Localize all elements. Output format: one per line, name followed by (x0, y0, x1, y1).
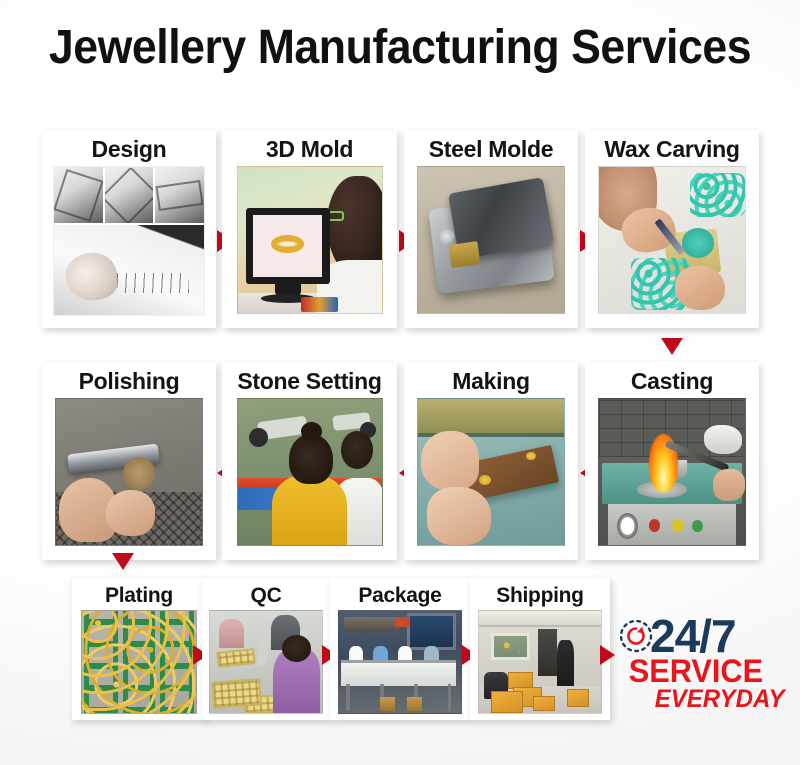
bench-jeweller-filing-photo (417, 398, 565, 546)
step-card-shipping[interactable]: Shipping (470, 578, 610, 720)
step-card-steel-molde[interactable]: Steel Molde (404, 130, 578, 328)
hand-sketching-photo (54, 225, 204, 316)
step-card-casting[interactable]: Casting (585, 362, 759, 560)
service-badge-24-7: 24/7 SERVICE EVERYDAY (612, 608, 777, 720)
step-label-design: Design (92, 134, 167, 166)
step-card-making[interactable]: Making (404, 362, 578, 560)
step-label-making: Making (452, 366, 529, 398)
badge-service-text: SERVICE (629, 656, 763, 686)
step-label-3d-mold: 3D Mold (266, 134, 353, 166)
step-label-shipping: Shipping (496, 582, 583, 610)
sketch-thumb-2 (105, 167, 154, 223)
arrow-down-icon-row2-row3 (112, 553, 134, 570)
step-card-design[interactable]: Design (42, 130, 216, 328)
badge-number: 24/7 (650, 617, 736, 657)
casting-torch-flame-photo (598, 398, 746, 546)
page-title: Jewellery Manufacturing Services (28, 20, 772, 75)
plating-racks-photo (81, 610, 197, 714)
step-label-steel-molde: Steel Molde (429, 134, 554, 166)
infographic-page: Jewellery Manufacturing Services Design … (0, 0, 800, 765)
step-label-plating: Plating (105, 582, 173, 610)
step-label-polishing: Polishing (79, 366, 180, 398)
wax-carving-hands-photo (598, 166, 746, 314)
step-label-qc: QC (251, 582, 282, 610)
sketch-thumb-3 (155, 167, 204, 223)
step-label-stone-setting: Stone Setting (237, 366, 381, 398)
quality-control-inspection-photo (209, 610, 323, 714)
design-sketches-photo (53, 166, 205, 316)
step-label-package: Package (358, 582, 441, 610)
cad-designer-monitor-photo (237, 166, 383, 314)
step-card-plating[interactable]: Plating (72, 578, 206, 720)
step-card-stone-setting[interactable]: Stone Setting (222, 362, 397, 560)
step-card-3d-mold[interactable]: 3D Mold (222, 130, 397, 328)
step-label-wax-carving: Wax Carving (604, 134, 739, 166)
step-label-casting: Casting (631, 366, 713, 398)
packaging-workbench-photo (338, 610, 462, 714)
shipping-cartons-office-photo (478, 610, 602, 714)
arrow-down-icon-row1-row2 (661, 338, 683, 355)
steel-mold-block-photo (417, 166, 565, 314)
step-card-wax-carving[interactable]: Wax Carving (585, 130, 759, 328)
step-card-package[interactable]: Package (330, 578, 470, 720)
badge-everyday-text: EVERYDAY (655, 687, 785, 712)
sketch-thumb-1 (54, 167, 103, 223)
polishing-wheel-photo (55, 398, 203, 546)
step-card-qc[interactable]: QC (202, 578, 330, 720)
stone-setters-microscope-photo (237, 398, 383, 546)
step-card-polishing[interactable]: Polishing (42, 362, 216, 560)
